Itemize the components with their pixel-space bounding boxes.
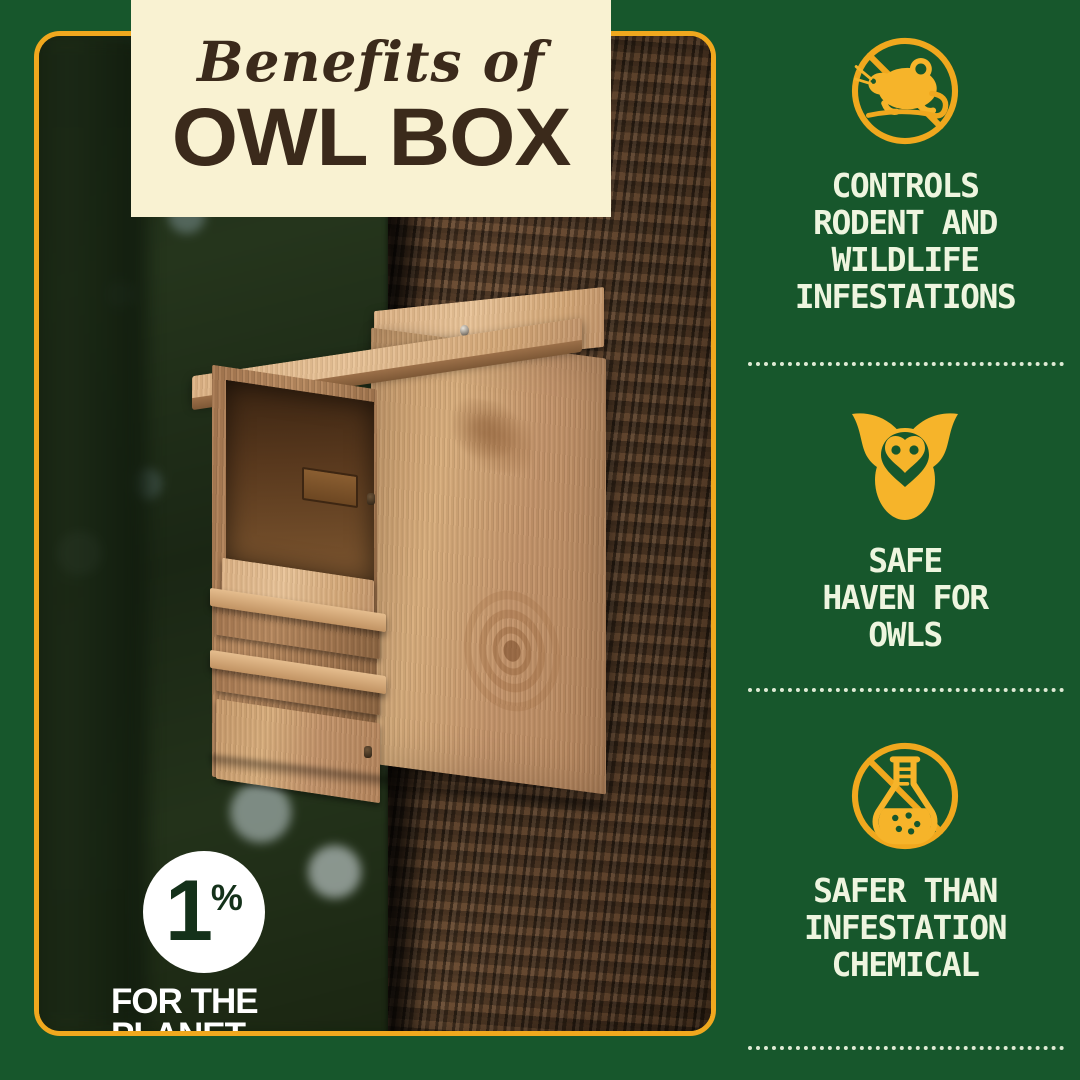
no-rodent-icon xyxy=(730,30,1080,152)
badge-percent-symbol: % xyxy=(211,877,243,919)
benefit-divider xyxy=(748,362,1064,366)
no-chemical-flask-icon xyxy=(730,735,1080,857)
benefits-list: CONTROLS RODENT AND WILDLIFE INFESTATION… xyxy=(730,0,1080,1080)
badge-wordmark: FOR THE PLANET. xyxy=(111,985,311,1031)
one-percent-badge: 1 % xyxy=(143,851,265,973)
owl-box-benefits-infographic: 1 % FOR THE PLANET. Benefits of OWL BOX xyxy=(0,0,1080,1080)
owl-box-product xyxy=(164,291,604,826)
benefit-item-rodent-control: CONTROLS RODENT AND WILDLIFE INFESTATION… xyxy=(730,30,1080,316)
benefit-label: CONTROLS RODENT AND WILDLIFE INFESTATION… xyxy=(730,168,1080,316)
benefit-item-no-chemicals: SAFER THAN INFESTATION CHEMICAL xyxy=(730,735,1080,984)
benefit-label: SAFER THAN INFESTATION CHEMICAL xyxy=(730,873,1080,984)
page-title: OWL BOX xyxy=(121,95,620,181)
badge-wordmark-line2: PLANET. xyxy=(111,1019,311,1031)
benefit-divider xyxy=(748,688,1064,692)
owl-box-front-panel xyxy=(371,328,606,795)
owl-box-hinge xyxy=(367,493,375,505)
banner-scalloped-edge xyxy=(131,205,611,227)
badge-wordmark-line1: FOR THE xyxy=(111,985,311,1019)
benefit-item-safe-haven: SAFE HAVEN FOR OWLS xyxy=(730,405,1080,654)
badge-registered-mark: . xyxy=(245,1022,248,1031)
badge-wordmark-line2-text: PLANET xyxy=(111,1016,245,1031)
owl-icon xyxy=(730,405,1080,527)
one-percent-for-the-planet-logo: 1 % FOR THE PLANET. xyxy=(111,851,311,1031)
wood-grain-streak xyxy=(452,396,532,477)
badge-number: 1 xyxy=(165,875,210,949)
benefit-divider xyxy=(748,1046,1064,1050)
owl-box-hinge xyxy=(364,746,372,758)
benefit-label: SAFE HAVEN FOR OWLS xyxy=(730,543,1080,654)
title-banner: Benefits of OWL BOX xyxy=(131,0,611,217)
banner-kicker: Benefits of xyxy=(131,34,611,89)
